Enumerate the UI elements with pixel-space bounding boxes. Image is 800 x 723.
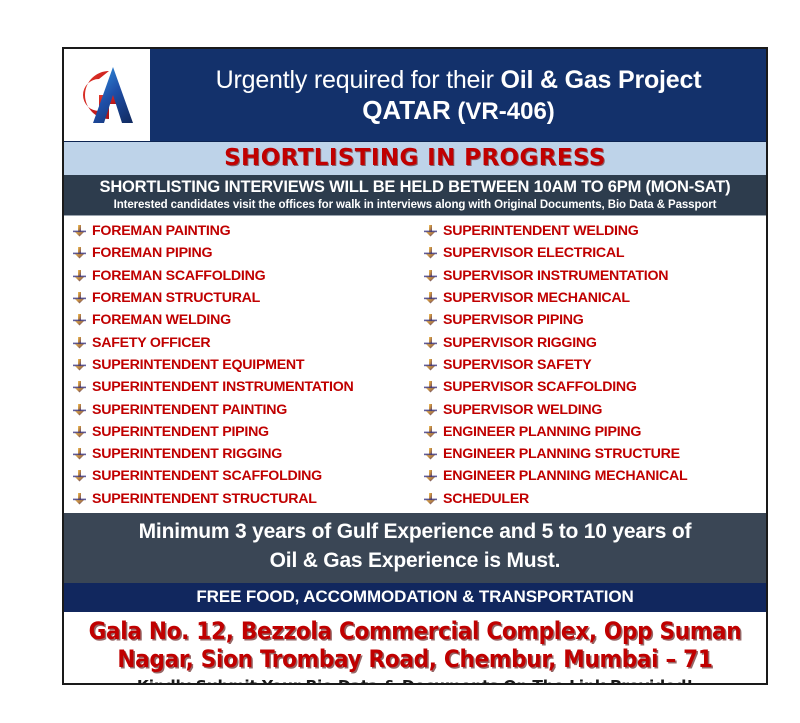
down-arrow-bullet-icon bbox=[423, 380, 439, 394]
job-positions-list: FOREMAN PAINTINGFOREMAN PIPINGFOREMAN SC… bbox=[64, 215, 766, 513]
header-text-block: Urgently required for their Oil & Gas Pr… bbox=[151, 49, 766, 141]
header-line-1-plain: Urgently required for their bbox=[216, 66, 501, 94]
job-title-label: SUPERINTENDENT PAINTING bbox=[92, 402, 287, 418]
job-title-label: ENGINEER PLANNING STRUCTURE bbox=[443, 446, 680, 462]
down-arrow-bullet-icon bbox=[423, 492, 439, 506]
submission-note: Kindly Submit Your Bio Data & Documents … bbox=[70, 677, 760, 685]
job-list-item: ENGINEER PLANNING MECHANICAL bbox=[423, 465, 766, 487]
job-list-item: ENGINEER PLANNING PIPING bbox=[423, 421, 766, 443]
job-list-item: SUPERINTENDENT EQUIPMENT bbox=[72, 354, 415, 376]
job-list-item: SUPERVISOR INSTRUMENTATION bbox=[423, 265, 766, 287]
experience-line-2: Oil & Gas Experience is Must. bbox=[74, 547, 756, 576]
job-title-label: SUPERINTENDENT STRUCTURAL bbox=[92, 491, 317, 507]
job-list-item: SUPERINTENDENT INSTRUMENTATION bbox=[72, 376, 415, 398]
job-title-label: FOREMAN STRUCTURAL bbox=[92, 290, 260, 306]
experience-line-1: Minimum 3 years of Gulf Experience and 5… bbox=[74, 518, 756, 547]
job-title-label: FOREMAN SCAFFOLDING bbox=[92, 268, 265, 284]
header-country: QATAR bbox=[362, 95, 451, 125]
job-title-label: SUPERINTENDENT PIPING bbox=[92, 424, 269, 440]
job-list-item: SUPERINTENDENT WELDING bbox=[423, 220, 766, 242]
job-list-item: SUPERVISOR ELECTRICAL bbox=[423, 242, 766, 264]
down-arrow-bullet-icon bbox=[423, 269, 439, 283]
shortlisting-banner-text: SHORTLISTING IN PROGRESS bbox=[224, 145, 606, 171]
job-title-label: SUPERVISOR PIPING bbox=[443, 312, 584, 328]
down-arrow-bullet-icon bbox=[72, 425, 88, 439]
down-arrow-bullet-icon bbox=[72, 492, 88, 506]
down-arrow-bullet-icon bbox=[72, 469, 88, 483]
interview-timings-text: SHORTLISTING INTERVIEWS WILL BE HELD BET… bbox=[68, 178, 762, 197]
job-title-label: ENGINEER PLANNING MECHANICAL bbox=[443, 468, 687, 484]
down-arrow-bullet-icon bbox=[72, 358, 88, 372]
header-vacancy-ref: (VR-406) bbox=[451, 98, 555, 125]
address-block: Gala No. 12, Bezzola Commercial Complex,… bbox=[64, 612, 766, 685]
down-arrow-bullet-icon bbox=[423, 447, 439, 461]
down-arrow-bullet-icon bbox=[72, 403, 88, 417]
header-line-1: Urgently required for their Oil & Gas Pr… bbox=[157, 67, 760, 94]
job-title-label: FOREMAN PIPING bbox=[92, 245, 212, 261]
down-arrow-bullet-icon bbox=[423, 313, 439, 327]
job-title-label: SAFETY OFFICER bbox=[92, 335, 210, 351]
down-arrow-bullet-icon bbox=[72, 291, 88, 305]
job-list-item: FOREMAN SCAFFOLDING bbox=[72, 265, 415, 287]
job-title-label: SUPERINTENDENT RIGGING bbox=[92, 446, 282, 462]
job-list-item: SUPERINTENDENT PAINTING bbox=[72, 398, 415, 420]
down-arrow-bullet-icon bbox=[72, 380, 88, 394]
down-arrow-bullet-icon bbox=[423, 425, 439, 439]
job-title-label: SUPERINTENDENT INSTRUMENTATION bbox=[92, 379, 354, 395]
job-title-label: ENGINEER PLANNING PIPING bbox=[443, 424, 641, 440]
job-title-label: SUPERINTENDENT SCAFFOLDING bbox=[92, 468, 322, 484]
down-arrow-bullet-icon bbox=[423, 469, 439, 483]
down-arrow-bullet-icon bbox=[423, 291, 439, 305]
poster-header: Urgently required for their Oil & Gas Pr… bbox=[64, 49, 766, 141]
job-list-item: SUPERINTENDENT RIGGING bbox=[72, 443, 415, 465]
header-line-1-bold: Oil & Gas Project bbox=[500, 66, 701, 94]
interview-instructions-text: Interested candidates visit the offices … bbox=[68, 199, 762, 211]
experience-requirement-block: Minimum 3 years of Gulf Experience and 5… bbox=[64, 513, 766, 583]
down-arrow-bullet-icon bbox=[72, 336, 88, 350]
job-title-label: FOREMAN PAINTING bbox=[92, 223, 230, 239]
job-list-item: SUPERVISOR RIGGING bbox=[423, 331, 766, 353]
job-title-label: SUPERVISOR ELECTRICAL bbox=[443, 245, 624, 261]
job-list-item: SUPERVISOR WELDING bbox=[423, 398, 766, 420]
header-line-2: QATAR (VR-406) bbox=[157, 97, 760, 125]
job-title-label: SUPERINTENDENT WELDING bbox=[443, 223, 639, 239]
job-list-item: ENGINEER PLANNING STRUCTURE bbox=[423, 443, 766, 465]
down-arrow-bullet-icon bbox=[72, 224, 88, 238]
logo-container bbox=[64, 49, 151, 141]
down-arrow-bullet-icon bbox=[72, 246, 88, 260]
job-list-item: FOREMAN WELDING bbox=[72, 309, 415, 331]
job-list-item: SUPERINTENDENT PIPING bbox=[72, 421, 415, 443]
job-list-item: FOREMAN PIPING bbox=[72, 242, 415, 264]
job-list-item: SUPERVISOR SCAFFOLDING bbox=[423, 376, 766, 398]
job-title-label: FOREMAN WELDING bbox=[92, 312, 231, 328]
job-title-label: SUPERVISOR SAFETY bbox=[443, 357, 591, 373]
address-line-1: Gala No. 12, Bezzola Commercial Complex,… bbox=[70, 617, 760, 645]
job-list-item: SCHEDULER bbox=[423, 488, 766, 510]
job-title-label: SUPERVISOR SCAFFOLDING bbox=[443, 379, 637, 395]
down-arrow-bullet-icon bbox=[423, 403, 439, 417]
job-list-item: SUPERINTENDENT STRUCTURAL bbox=[72, 488, 415, 510]
benefits-bar: FREE FOOD, ACCOMMODATION & TRANSPORTATIO… bbox=[64, 583, 766, 612]
job-title-label: SUPERVISOR RIGGING bbox=[443, 335, 597, 351]
shortlisting-banner: SHORTLISTING IN PROGRESS bbox=[64, 141, 766, 175]
address-line-2: Nagar, Sion Trombay Road, Chembur, Mumba… bbox=[70, 645, 760, 673]
recruitment-poster: Urgently required for their Oil & Gas Pr… bbox=[62, 47, 768, 685]
down-arrow-bullet-icon bbox=[72, 269, 88, 283]
job-title-label: SCHEDULER bbox=[443, 491, 529, 507]
job-list-item: SUPERVISOR MECHANICAL bbox=[423, 287, 766, 309]
job-title-label: SUPERVISOR WELDING bbox=[443, 402, 602, 418]
down-arrow-bullet-icon bbox=[423, 224, 439, 238]
job-title-label: SUPERVISOR INSTRUMENTATION bbox=[443, 268, 668, 284]
down-arrow-bullet-icon bbox=[72, 447, 88, 461]
job-column-right: SUPERINTENDENT WELDINGSUPERVISOR ELECTRI… bbox=[415, 220, 766, 510]
down-arrow-bullet-icon bbox=[72, 313, 88, 327]
down-arrow-bullet-icon bbox=[423, 246, 439, 260]
job-list-item: SUPERVISOR PIPING bbox=[423, 309, 766, 331]
job-title-label: SUPERINTENDENT EQUIPMENT bbox=[92, 357, 304, 373]
job-list-item: FOREMAN STRUCTURAL bbox=[72, 287, 415, 309]
interview-info-bar: SHORTLISTING INTERVIEWS WILL BE HELD BET… bbox=[64, 175, 766, 215]
down-arrow-bullet-icon bbox=[423, 358, 439, 372]
job-list-item: SUPERINTENDENT SCAFFOLDING bbox=[72, 465, 415, 487]
job-title-label: SUPERVISOR MECHANICAL bbox=[443, 290, 630, 306]
down-arrow-bullet-icon bbox=[423, 336, 439, 350]
benefits-bar-text: FREE FOOD, ACCOMMODATION & TRANSPORTATIO… bbox=[196, 587, 633, 606]
ga-logo-icon bbox=[69, 59, 145, 131]
job-list-item: SAFETY OFFICER bbox=[72, 331, 415, 353]
job-column-left: FOREMAN PAINTINGFOREMAN PIPINGFOREMAN SC… bbox=[64, 220, 415, 510]
job-list-item: FOREMAN PAINTING bbox=[72, 220, 415, 242]
job-list-item: SUPERVISOR SAFETY bbox=[423, 354, 766, 376]
